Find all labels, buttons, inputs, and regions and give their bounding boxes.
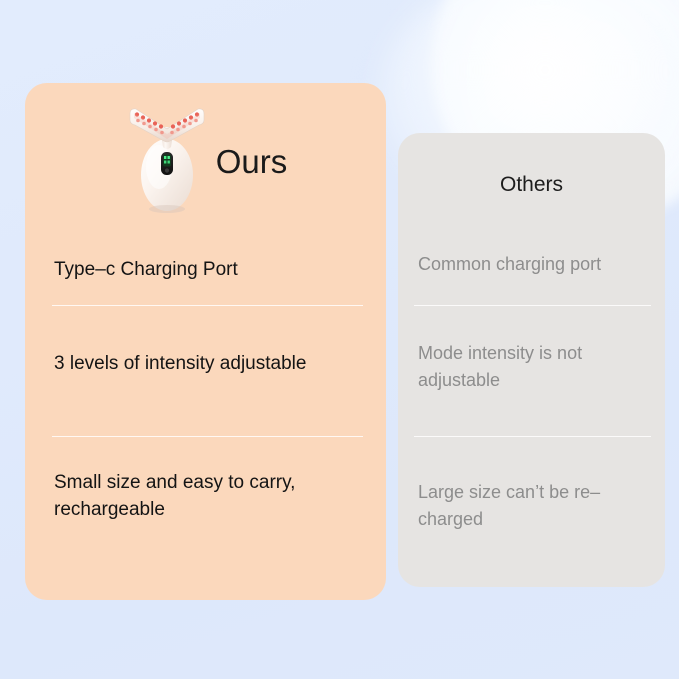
row-divider-ours-2	[52, 436, 363, 437]
row-divider-ours-1	[52, 305, 363, 306]
ours-feature-2: 3 levels of intensity adjustable	[54, 350, 369, 377]
others-title: Others	[398, 173, 665, 197]
others-feature-2: Mode intensity is not adjustable	[418, 340, 658, 394]
others-feature-1: Common charging port	[418, 251, 658, 278]
beauty-device-icon	[124, 103, 210, 215]
row-divider-others-2	[414, 436, 651, 437]
ours-feature-3: Small size and easy to carry, rechargeab…	[54, 469, 369, 523]
ours-header: Ours	[25, 100, 386, 218]
row-divider-others-1	[414, 305, 651, 306]
ours-title: Ours	[216, 143, 288, 181]
others-feature-3: Large size can’t be re–charged	[418, 479, 658, 533]
ours-feature-1: Type–c Charging Port	[54, 256, 369, 283]
